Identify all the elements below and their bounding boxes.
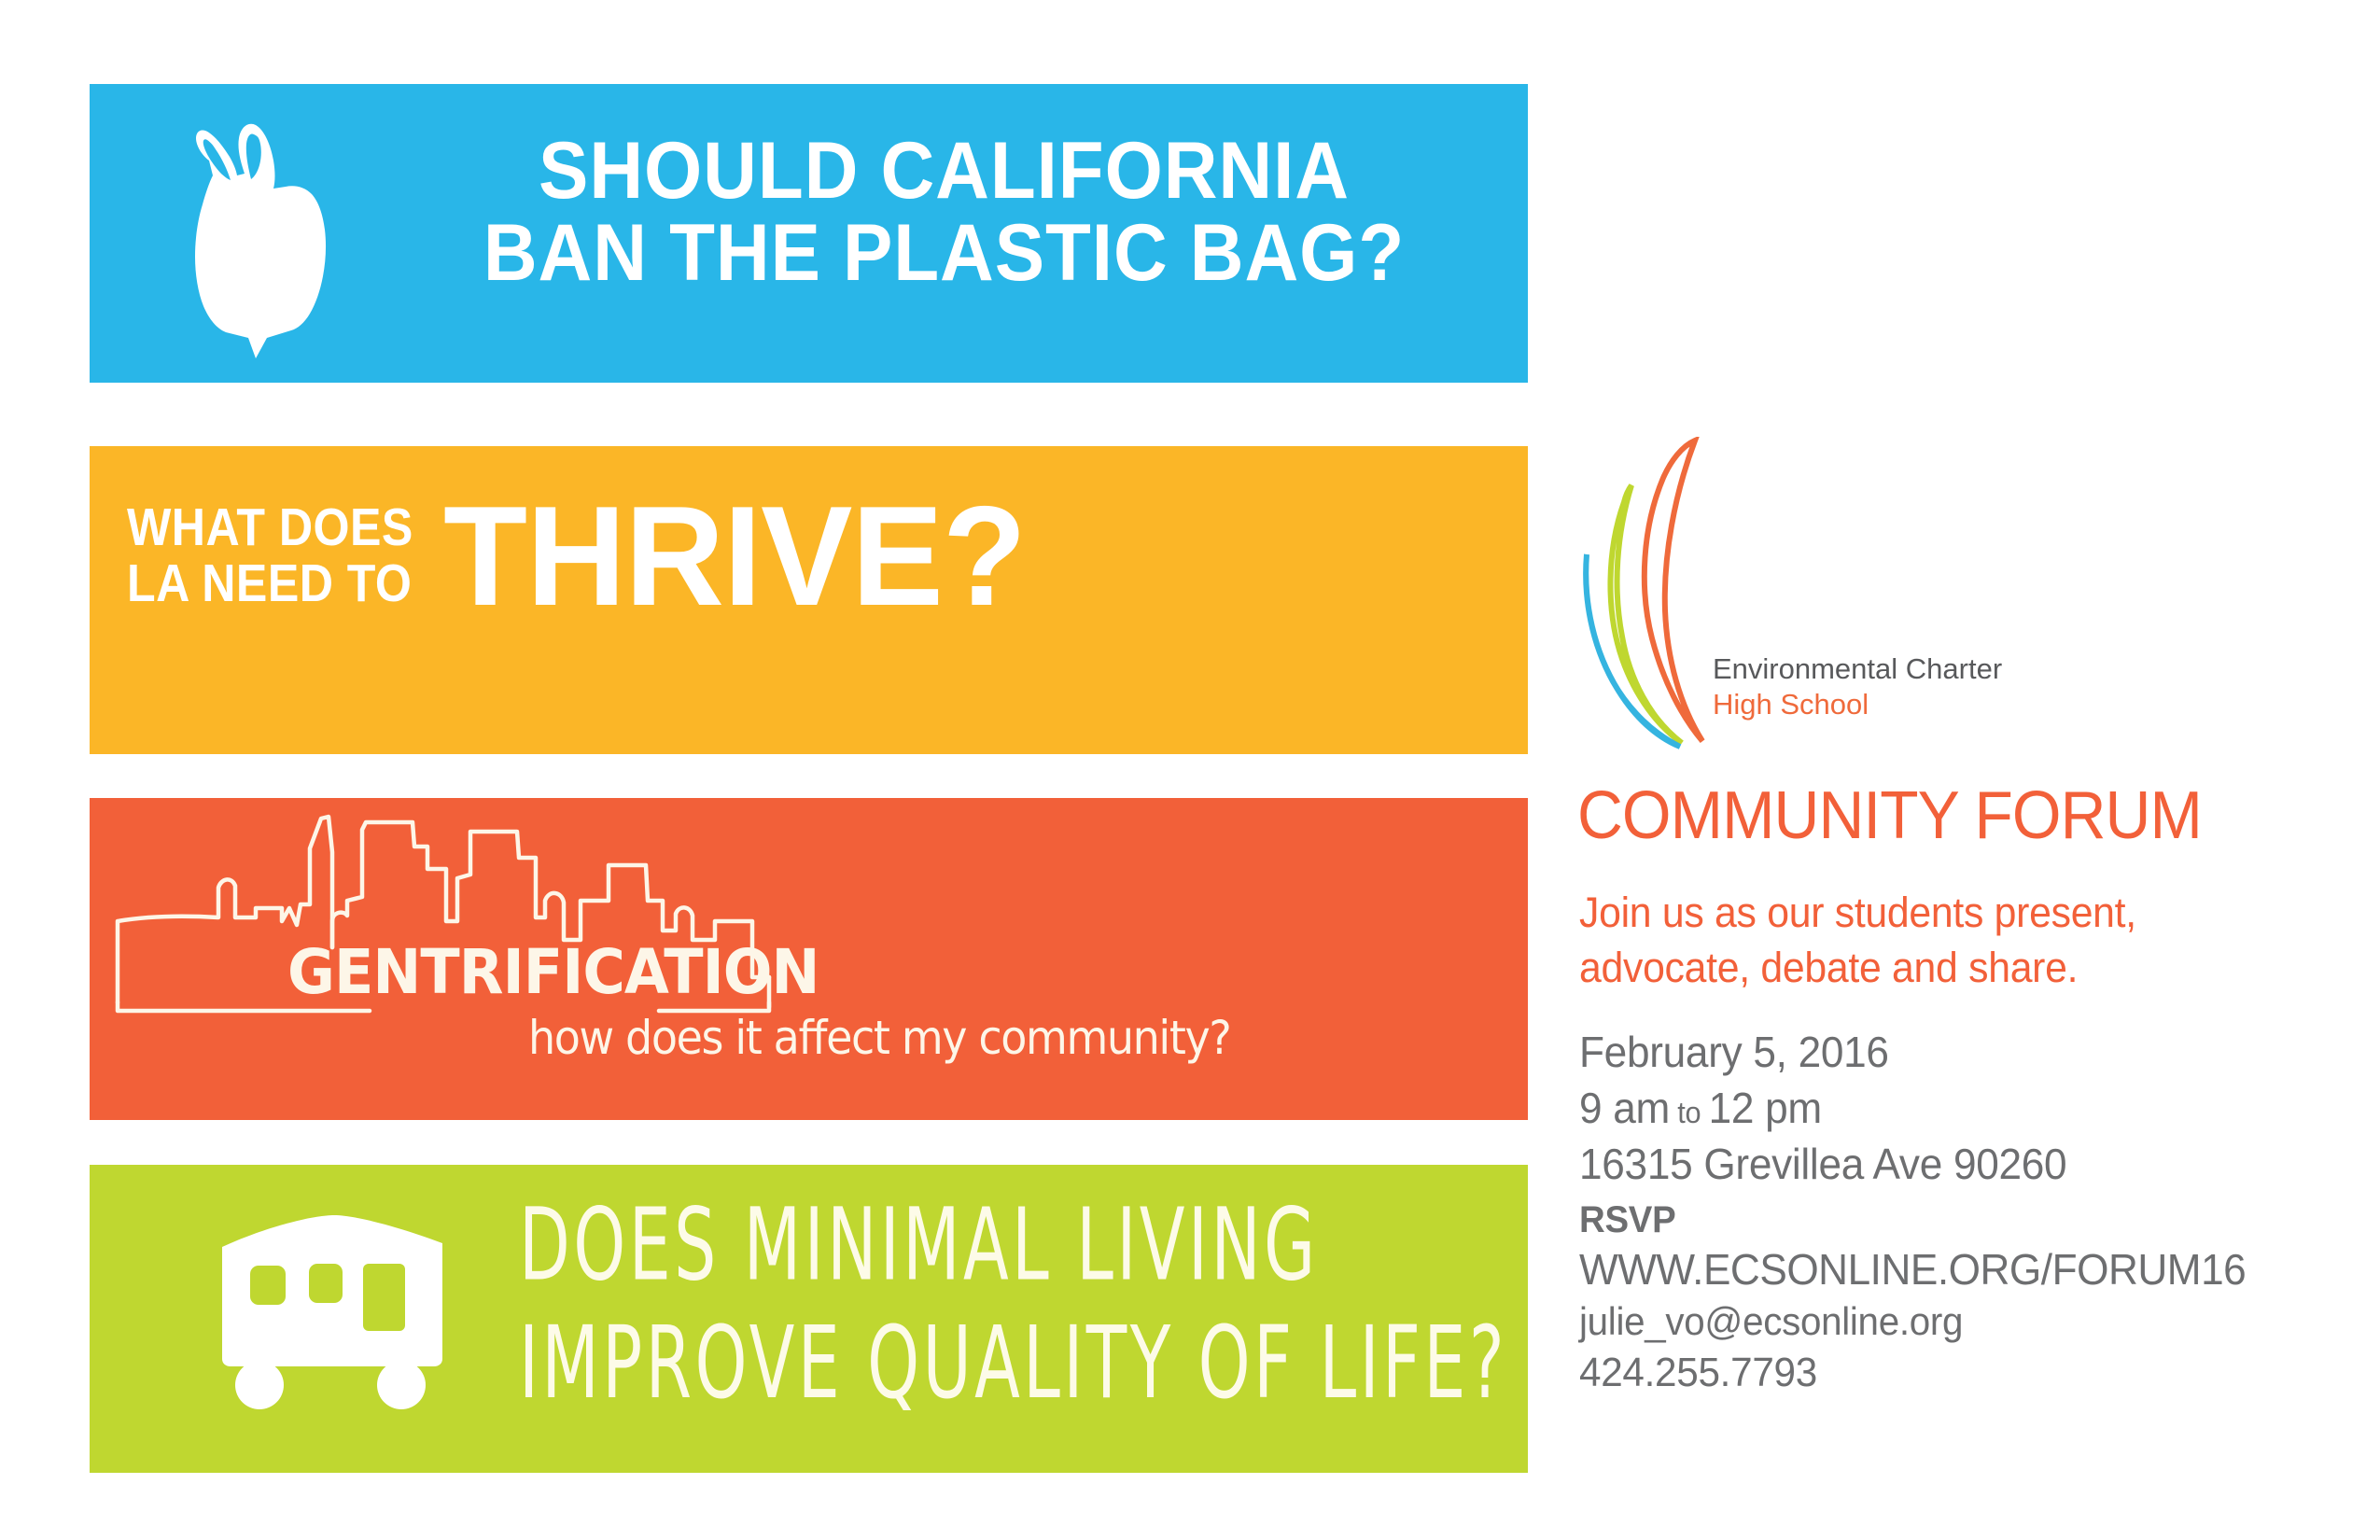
poster-canvas: SHOULD CALIFORNIA BAN THE PLASTIC BAG? W…	[0, 0, 2380, 1540]
headline-line-2: BAN THE PLASTIC BAG?	[436, 213, 1452, 295]
rsvp-url[interactable]: WWW.ECSONLINE.ORG/FORUM16	[1579, 1243, 2246, 1297]
tiny-home-trailer-icon	[211, 1211, 454, 1412]
event-time-start: 9 am	[1579, 1084, 1670, 1132]
logo-text-line-2: High School	[1713, 687, 2002, 722]
event-details: February 5, 2016 9 am to 12 pm 16315 Gre…	[1579, 1025, 2066, 1192]
minimal-line-1: DOES MINIMAL LIVING	[519, 1187, 1507, 1305]
event-intro-line-2: advocate, debate and share.	[1579, 940, 2136, 995]
event-time-end: 12 pm	[1709, 1084, 1822, 1132]
event-intro-line-1: Join us as our students present,	[1579, 885, 2136, 940]
banner-gentrification: GENTRIFICATION how does it affect my com…	[90, 798, 1528, 1120]
rsvp-phone[interactable]: 424.255.7793	[1579, 1347, 2246, 1398]
headline-line-1: SHOULD CALIFORNIA	[436, 131, 1452, 213]
info-column: Environmental Charter High School COMMUN…	[1577, 0, 2361, 1540]
banner-plastic-bag-headline: SHOULD CALIFORNIA BAN THE PLASTIC BAG?	[436, 131, 1452, 294]
banner-gentrification-subtitle: how does it affect my community?	[528, 1011, 1230, 1065]
rsvp-email[interactable]: julie_vo@ecsonline.org	[1579, 1297, 2246, 1347]
rsvp-block: RSVP WWW.ECSONLINE.ORG/FORUM16 julie_vo@…	[1579, 1197, 2246, 1399]
event-time-joiner: to	[1670, 1096, 1709, 1129]
banner-minimal-living: DOES MINIMAL LIVING IMPROVE QUALITY OF L…	[90, 1165, 1528, 1473]
logo-text-line-1: Environmental Charter	[1713, 651, 2002, 687]
event-address: 16315 Grevillea Ave 90260	[1579, 1137, 2066, 1193]
school-logo: Environmental Charter High School	[1577, 437, 1885, 754]
plastic-bag-icon	[155, 93, 360, 364]
event-time: 9 am to 12 pm	[1579, 1081, 2066, 1137]
banner-gentrification-word: GENTRIFICATION	[287, 936, 819, 1008]
banner-minimal-living-headline: DOES MINIMAL LIVING IMPROVE QUALITY OF L…	[519, 1187, 1507, 1422]
banner-thrive-lead-text: WHAT DOES LA NEED TO	[127, 500, 413, 612]
minimal-line-2: IMPROVE QUALITY OF LIFE?	[519, 1305, 1507, 1422]
banner-thrive: WHAT DOES LA NEED TO THRIVE?	[90, 446, 1528, 754]
event-intro: Join us as our students present, advocat…	[1579, 885, 2136, 996]
event-title: COMMUNITY FORUM	[1577, 782, 2202, 849]
thrive-lead-line-2: LA NEED TO	[127, 556, 413, 612]
event-date: February 5, 2016	[1579, 1025, 2066, 1081]
school-logo-text: Environmental Charter High School	[1713, 651, 2002, 722]
thrive-lead-line-1: WHAT DOES	[127, 500, 413, 556]
banner-plastic-bag: SHOULD CALIFORNIA BAN THE PLASTIC BAG?	[90, 84, 1528, 383]
banner-thrive-keyword: THRIVE?	[443, 485, 1026, 627]
rsvp-label: RSVP	[1579, 1197, 2246, 1243]
